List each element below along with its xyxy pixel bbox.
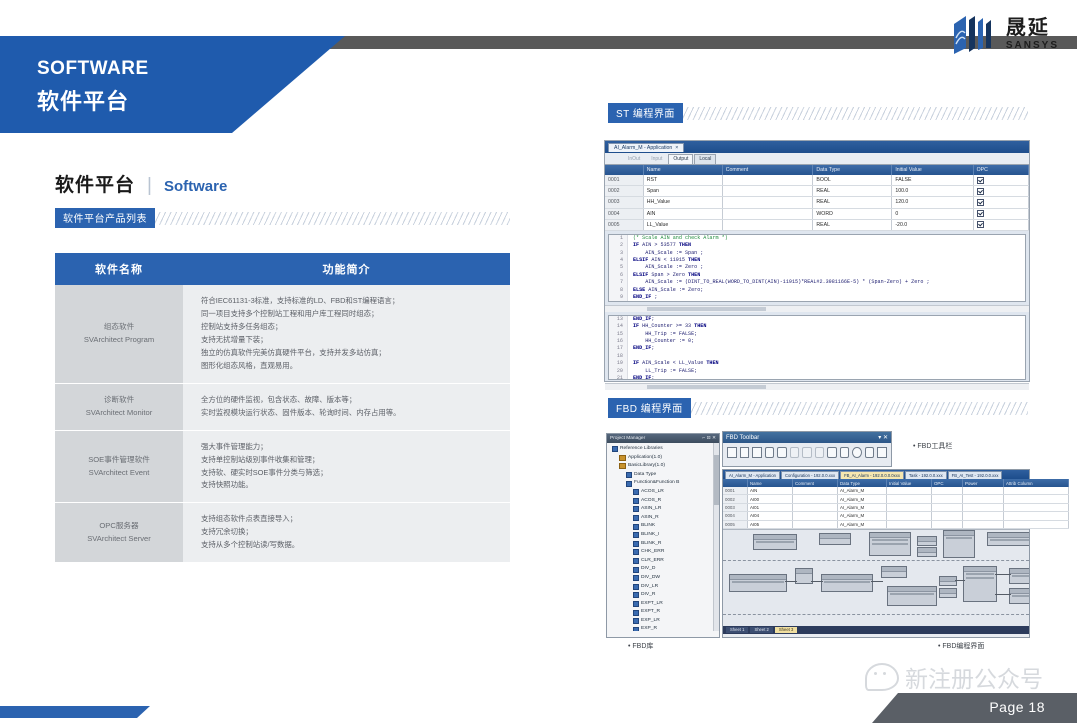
product-desc-line: 强大事件管理能力； xyxy=(201,441,500,454)
tool-function-icon[interactable] xyxy=(777,447,787,458)
logo-name-cn: 晟延 xyxy=(1006,18,1059,38)
fbd-cell xyxy=(793,487,838,495)
product-desc-line: 图形化组态风格，直观易用。 xyxy=(201,360,500,373)
st-hscrollbar-bottom[interactable] xyxy=(605,383,1029,390)
code-line: 13END_IF; xyxy=(609,316,1025,323)
tree-item-label: EXPT_LR xyxy=(641,600,663,609)
fbd-grid-row[interactable]: 0002AI00AI_Alarm_M xyxy=(723,495,1069,503)
code-line-text: AIN_Scale := Zero ; xyxy=(628,264,703,271)
fbd-editor-label: FBD编程界面 xyxy=(938,641,984,651)
block-icon xyxy=(633,627,639,631)
code-line-text: ELSE AIN_Scale := Zero; xyxy=(628,287,703,294)
fbd-cell: 0005 xyxy=(723,520,748,528)
code-line-number: 17 xyxy=(609,345,628,352)
panel-window-controls[interactable]: ⌐ ⊡ ✕ xyxy=(702,436,716,441)
tree-item[interactable]: CHK_ERR xyxy=(610,548,719,557)
watermark-text: 新注册公众号 xyxy=(905,660,1043,694)
block-icon xyxy=(633,532,639,538)
tree-item[interactable]: EXP_LR xyxy=(610,617,719,626)
code-line-number: 21 xyxy=(609,375,628,380)
hatch-decoration xyxy=(154,212,510,225)
fbd-block[interactable] xyxy=(963,566,997,602)
block-icon xyxy=(633,515,639,521)
fbd-cell xyxy=(963,487,1004,495)
section-title-en: Software xyxy=(164,178,227,195)
st-window-tabbar: AI_Alarm_M - Application × xyxy=(605,141,1029,153)
product-name-cell: OPC服务器SVArchitect Server xyxy=(55,503,183,563)
fbd-block[interactable] xyxy=(939,576,957,586)
st-grid-row[interactable]: 0003HH_ValueREAL120.0 xyxy=(605,197,1029,208)
project-manager-scrollbar[interactable] xyxy=(713,443,719,631)
tree-item-label: ASIN_LR xyxy=(641,505,661,514)
code-line: 8ELSE AIN_Scale := Zero; xyxy=(609,287,1025,294)
st-cell-initial: -20.0 xyxy=(892,219,973,230)
st-opc-checkbox[interactable] xyxy=(973,186,1028,197)
chevron-down-icon[interactable]: ▾ xyxy=(878,435,881,441)
fbd-cell xyxy=(793,503,838,511)
tree-item-label: EXPT_R xyxy=(641,608,660,617)
tree-item-label: ASIN_R xyxy=(641,514,659,523)
code-line-text: HH_Counter := 0; xyxy=(628,338,694,345)
product-name-en: SVArchitect Event xyxy=(59,467,179,480)
product-desc-line: 独立的仿真软件完美仿真硬件平台，支持并发多站仿真； xyxy=(201,347,500,360)
fbd-cell: AI04 xyxy=(748,512,793,520)
product-desc-cell: 全方位的硬件监视，包含状态、故障、版本等；实时监视模块运行状态、固件版本、轮询时… xyxy=(183,383,510,430)
header-title-en: SOFTWARE xyxy=(37,58,149,80)
st-variable-scope-tabs[interactable]: InOutInputOutputLocal xyxy=(605,153,1029,165)
st-col-index xyxy=(605,165,643,175)
column-header-name: 软件名称 xyxy=(55,253,183,285)
code-line: 5 AIN_Scale := Zero ; xyxy=(609,264,1025,271)
fbd-editor-tab[interactable]: Configuration - 192.0.0.xxx xyxy=(781,471,839,479)
project-manager-titlebar: Project Manager ⌐ ⊡ ✕ xyxy=(607,434,719,443)
code-line: 20 LL_Trip := FALSE; xyxy=(609,368,1025,375)
fbd-tag-row: FBD 编程界面 xyxy=(608,400,1028,416)
tool-variable-icon[interactable] xyxy=(827,447,837,458)
fbd-library-label: FBD库 xyxy=(628,641,653,651)
tool-contact-icon[interactable] xyxy=(790,447,800,458)
code-line-number: 2 xyxy=(609,242,628,249)
tool-comment-icon[interactable] xyxy=(840,447,850,458)
st-grid-row[interactable]: 0005LL_ValueREAL-20.0 xyxy=(605,219,1029,230)
st-cell-name: HH_Value xyxy=(643,197,722,208)
st-code-editor-top[interactable]: 1(* Scale AIN and check Alarm *)2IF AIN … xyxy=(608,234,1026,302)
fbd-block[interactable] xyxy=(939,588,957,598)
hatch-decoration-st xyxy=(682,107,1028,120)
page-number: Page 18 xyxy=(989,699,1045,715)
fbd-cell: AI00 xyxy=(748,495,793,503)
block-icon xyxy=(633,575,639,581)
slide-page: SOFTWARE 软件平台 晟延 SANSYS 软件平台 | Software … xyxy=(0,0,1077,728)
code-line: 14IF HH_Counter >= 33 THEN xyxy=(609,323,1025,330)
sheet-tab[interactable]: Sheet 1 xyxy=(726,627,748,633)
fbd-col-name: Name xyxy=(748,479,793,487)
block-icon xyxy=(633,618,639,624)
code-line-number: 5 xyxy=(609,264,628,271)
code-line: 9END_IF ; xyxy=(609,294,1025,301)
fbd-cell xyxy=(1004,495,1069,503)
tool-column-icon[interactable] xyxy=(752,447,762,458)
st-grid-row[interactable]: 0002SpanREAL100.0 xyxy=(605,186,1029,197)
code-line-text: END_IF; xyxy=(628,345,654,352)
st-editor-window[interactable]: AI_Alarm_M - Application × InOutInputOut… xyxy=(604,140,1030,382)
fbd-section-tag: FBD 编程界面 xyxy=(608,398,691,418)
code-line-number: 18 xyxy=(609,353,628,360)
product-desc-line: 支持快照功能。 xyxy=(201,479,500,492)
tree-item[interactable]: ACOS_R xyxy=(610,497,719,506)
fbd-col-initial-value: Initial Value xyxy=(887,479,932,487)
tool-label-icon[interactable] xyxy=(865,447,875,458)
block-icon xyxy=(633,524,639,530)
software-product-table: 软件名称 功能简介 组态软件SVArchitect Program符合IEC61… xyxy=(55,253,510,563)
st-cell-type: REAL xyxy=(813,186,892,197)
network-separator xyxy=(723,614,1029,615)
tree-item-label: Application(1.0) xyxy=(628,454,662,463)
tree-item-label: DIV_R xyxy=(641,591,655,600)
product-name-cell: 诊断软件SVArchitect Monitor xyxy=(55,383,183,430)
tree-item[interactable]: CLR_ERR xyxy=(610,557,719,566)
sheet-tab[interactable]: Sheet 2 xyxy=(750,627,772,633)
close-icon[interactable]: × xyxy=(675,145,678,151)
code-line: 1(* Scale AIN and check Alarm *) xyxy=(609,235,1025,242)
fbd-block[interactable] xyxy=(881,566,907,578)
code-line-number: 9 xyxy=(609,294,628,301)
code-line: 2IF AIN > 53577 THEN xyxy=(609,242,1025,249)
fbd-col-comment: Comment xyxy=(793,479,838,487)
code-line-number: 15 xyxy=(609,331,628,338)
tree-item[interactable]: Data Type xyxy=(610,471,719,480)
footer-blue-bar xyxy=(0,706,150,718)
tree-item-label: EXP_LR xyxy=(641,617,660,626)
product-desc-line: 支持无扰增量下装； xyxy=(201,334,500,347)
fbd-cell xyxy=(963,495,1004,503)
product-list-tag-row: 软件平台产品列表 xyxy=(55,210,510,226)
st-col-opc: OPC xyxy=(973,165,1028,175)
code-line-text: ELSIF Span > Zero THEN xyxy=(628,272,700,279)
project-manager-tree[interactable]: Reference LibrariesApplication(1.0)Basic… xyxy=(607,443,719,631)
st-cell-comment xyxy=(722,219,813,230)
tree-item[interactable]: ASIN_LR xyxy=(610,505,719,514)
fbd-cell xyxy=(932,520,963,528)
fbd-toolbar-buttons[interactable] xyxy=(723,443,891,462)
code-line-number: 16 xyxy=(609,338,628,345)
st-cell-type: WORD xyxy=(813,208,892,219)
fbd-col-data-type: Data Type xyxy=(838,479,887,487)
code-line: 3 AIN_Scale := Span ; xyxy=(609,250,1025,257)
fbd-block[interactable] xyxy=(869,532,911,556)
section-title-cn: 软件平台 xyxy=(55,170,135,197)
fbd-cell: AI_Alarm_M xyxy=(838,487,887,495)
fbd-cell xyxy=(887,512,932,520)
fbd-cell: 0003 xyxy=(723,503,748,511)
fbd-cell xyxy=(1004,487,1069,495)
tree-item[interactable]: BLINK xyxy=(610,522,719,531)
st-section-tag: ST 编程界面 xyxy=(608,103,683,123)
wechat-watermark: 新注册公众号 xyxy=(865,660,1043,694)
tree-item[interactable]: BasicLibrary(1.0) xyxy=(610,462,719,471)
tree-item[interactable]: BLINK_I xyxy=(610,531,719,540)
st-cell-comment xyxy=(722,175,813,186)
network-separator xyxy=(723,560,1029,561)
code-line-number: 4 xyxy=(609,257,628,264)
code-line-number: 19 xyxy=(609,360,628,367)
fbd-wire xyxy=(811,581,823,582)
fbd-cell: AI05 xyxy=(748,520,793,528)
code-line-text: ELSIF AIN < 11915 THEN xyxy=(628,257,700,264)
st-code-editor-bottom[interactable]: 13END_IF;14IF HH_Counter >= 33 THEN15 HH… xyxy=(608,315,1026,380)
st-cell-name: LL_Value xyxy=(643,219,722,230)
tree-item[interactable]: DIV_D xyxy=(610,565,719,574)
tool-coil-icon[interactable] xyxy=(802,447,812,458)
fbd-editor-tabbar[interactable]: AI_Alarm_M - ApplicationConfiguration - … xyxy=(723,470,1029,479)
fbd-block[interactable] xyxy=(987,532,1029,546)
st-scope-tab-input[interactable]: Input xyxy=(646,154,667,164)
tree-item[interactable]: EXPT_LR xyxy=(610,600,719,609)
function-icon xyxy=(626,481,632,487)
code-line-text: IF AIN > 53577 THEN xyxy=(628,242,691,249)
product-desc-cell: 支持组态软件点表直接导入；支持冗余切换；支持从多个控制站读/写数据。 xyxy=(183,503,510,563)
tree-item[interactable]: Application(1.0) xyxy=(610,454,719,463)
st-cell-idx: 0001 xyxy=(605,175,643,186)
st-hscrollbar-top[interactable] xyxy=(605,305,1029,312)
block-icon xyxy=(633,567,639,573)
code-line-number: 8 xyxy=(609,287,628,294)
code-line-number: 6 xyxy=(609,272,628,279)
datatype-icon xyxy=(626,472,632,478)
table-row: SOE事件管理软件SVArchitect Event强大事件管理能力；支持单控制… xyxy=(55,430,510,503)
block-icon xyxy=(633,584,639,590)
tree-item[interactable]: Function&Function B xyxy=(610,479,719,488)
tree-item[interactable]: DIV_LR xyxy=(610,583,719,592)
tree-item[interactable]: EXPT_R xyxy=(610,608,719,617)
fbd-toolbar-title: FBD Toolbar xyxy=(726,435,759,441)
tree-item[interactable]: EXP_R xyxy=(610,625,719,631)
product-desc-cell: 符合IEC61131-3标准，支持标准的LD、FBD和ST编程语言；同一项目支持… xyxy=(183,285,510,383)
folder-icon xyxy=(619,455,626,461)
tree-item-label: Data Type xyxy=(634,471,656,480)
code-line-text: AIN_Scale := Span ; xyxy=(628,250,703,257)
project-manager-title: Project Manager xyxy=(610,436,645,441)
column-header-desc: 功能简介 xyxy=(183,253,510,285)
fbd-block[interactable] xyxy=(1009,588,1029,604)
code-line-number: 1 xyxy=(609,235,628,242)
fbd-cell: 0001 xyxy=(723,487,748,495)
fbd-grid-row[interactable]: 0005AI05AI_Alarm_M xyxy=(723,520,1069,528)
product-list-tag: 软件平台产品列表 xyxy=(55,208,155,228)
code-line-number: 3 xyxy=(609,250,628,257)
fbd-cell xyxy=(1004,503,1069,511)
fbd-wire xyxy=(955,580,965,581)
fbd-block[interactable] xyxy=(821,574,873,592)
tool-jump-icon[interactable] xyxy=(815,447,825,458)
product-desc-line: 全方位的硬件监视，包含状态、故障、版本等； xyxy=(201,394,500,407)
fbd-col-power: Power xyxy=(963,479,1004,487)
st-opc-checkbox[interactable] xyxy=(973,208,1028,219)
fbd-cell xyxy=(1004,512,1069,520)
fbd-cell xyxy=(932,495,963,503)
fbd-cell xyxy=(932,512,963,520)
st-cell-type: BOOL xyxy=(813,175,892,186)
tree-item-label: DIV_DW xyxy=(641,574,660,583)
tree-item-label: BasicLibrary(1.0) xyxy=(628,462,665,471)
tool-pointer-icon[interactable] xyxy=(727,447,737,458)
block-icon xyxy=(633,506,639,512)
tool-network-icon[interactable] xyxy=(740,447,750,458)
fbd-cell: AI_Alarm_M xyxy=(838,495,887,503)
fbd-cell xyxy=(793,512,838,520)
code-line-number: 20 xyxy=(609,368,628,375)
fbd-grid-row[interactable]: 0001AINAI_Alarm_M xyxy=(723,487,1069,495)
fbd-cell xyxy=(963,520,1004,528)
st-opc-checkbox[interactable] xyxy=(973,219,1028,230)
code-line: 16 HH_Counter := 0; xyxy=(609,338,1025,345)
st-cell-idx: 0005 xyxy=(605,219,643,230)
table-header-row: 软件名称 功能简介 xyxy=(55,253,510,285)
fbd-block[interactable] xyxy=(917,547,937,557)
st-scope-tab-inout[interactable]: InOut xyxy=(623,154,645,164)
fbd-cell xyxy=(932,487,963,495)
product-desc-line: 符合IEC61131-3标准，支持标准的LD、FBD和ST编程语言； xyxy=(201,295,500,308)
st-cell-idx: 0002 xyxy=(605,186,643,197)
library-icon xyxy=(612,446,618,452)
fbd-cell xyxy=(963,512,1004,520)
st-grid-row[interactable]: 0004AINWORD0 xyxy=(605,208,1029,219)
fbd-editor-window[interactable]: AI_Alarm_M - ApplicationConfiguration - … xyxy=(722,469,1030,638)
st-window-tab[interactable]: AI_Alarm_M - Application × xyxy=(608,143,684,152)
fbd-cell xyxy=(1004,520,1069,528)
sansys-logo-mark-icon xyxy=(952,14,998,56)
fbd-block[interactable] xyxy=(1009,568,1029,584)
header-title-cn: 软件平台 xyxy=(37,84,129,116)
st-cell-initial: 120.0 xyxy=(892,197,973,208)
tree-item-label: CLR_ERR xyxy=(641,557,664,566)
st-scope-tab-local[interactable]: Local xyxy=(694,154,716,164)
fbd-editor-tab[interactable]: FB_AI_Alarm - 192.0.0.0.0xxx xyxy=(840,471,904,479)
st-opc-checkbox[interactable] xyxy=(973,175,1028,186)
tree-item[interactable]: Reference Libraries xyxy=(610,445,719,454)
tool-connector-icon[interactable] xyxy=(852,447,862,458)
code-line: 7 AIN_Scale := (DINT_TO_REAL(WORD_TO_DIN… xyxy=(609,279,1025,286)
product-desc-line: 支持软、硬实时SOE事件分类与筛选； xyxy=(201,467,500,480)
block-icon xyxy=(633,601,639,607)
tree-item[interactable]: BLINK_R xyxy=(610,540,719,549)
fbd-cell xyxy=(887,487,932,495)
table-row: 诊断软件SVArchitect Monitor全方位的硬件监视，包含状态、故障、… xyxy=(55,383,510,430)
fbd-grid-row[interactable]: 0004AI04AI_Alarm_M xyxy=(723,512,1069,520)
fbd-block[interactable] xyxy=(819,533,851,545)
tool-block-icon[interactable] xyxy=(765,447,775,458)
fbd-cell: AI_Alarm_M xyxy=(838,512,887,520)
code-line-number: 14 xyxy=(609,323,628,330)
product-name-cell: SOE事件管理软件SVArchitect Event xyxy=(55,430,183,503)
code-line-text: IF AIN_Scale < LL_Value THEN xyxy=(628,360,719,367)
st-cell-idx: 0004 xyxy=(605,208,643,219)
product-name-cn: SOE事件管理软件 xyxy=(59,454,179,467)
fbd-toolbar-window-controls[interactable]: ▾ ✕ xyxy=(878,434,888,441)
st-cell-initial: 100.0 xyxy=(892,186,973,197)
product-name-en: SVArchitect Server xyxy=(59,533,179,546)
fbd-block[interactable] xyxy=(943,530,975,558)
code-line-text: AIN_Scale := (DINT_TO_REAL(WORD_TO_DINT(… xyxy=(628,279,930,286)
tree-item[interactable]: DIV_R xyxy=(610,591,719,600)
tool-return-icon[interactable] xyxy=(877,447,887,458)
code-line: 17END_IF; xyxy=(609,345,1025,352)
product-desc-line: 支持单控制站级别事件收集和管理； xyxy=(201,454,500,467)
code-line: 10 xyxy=(609,301,1025,302)
fbd-grid-row[interactable]: 0003AI01AI_Alarm_M xyxy=(723,503,1069,511)
code-line-text: HH_Trip := FALSE; xyxy=(628,331,697,338)
fbd-editor-tab[interactable]: Task - 192.0.0.xxx xyxy=(905,471,947,479)
fbd-cell: 0004 xyxy=(723,512,748,520)
tree-item[interactable]: DIV_DW xyxy=(610,574,719,583)
fbd-block[interactable] xyxy=(729,574,787,592)
st-scope-tab-output[interactable]: Output xyxy=(668,154,693,164)
fbd-block[interactable] xyxy=(917,536,937,546)
code-line-number: 13 xyxy=(609,316,628,323)
code-line: 19IF AIN_Scale < LL_Value THEN xyxy=(609,360,1025,367)
fbd-cell: AI_Alarm_M xyxy=(838,520,887,528)
product-desc-cell: 强大事件管理能力；支持单控制站级别事件收集和管理；支持软、硬实时SOE事件分类与… xyxy=(183,430,510,503)
block-icon xyxy=(633,592,639,598)
st-cell-type: REAL xyxy=(813,219,892,230)
project-manager-panel[interactable]: Project Manager ⌐ ⊡ ✕ Reference Librarie… xyxy=(606,433,720,638)
fbd-cell xyxy=(887,520,932,528)
fbd-diagram-canvas[interactable] xyxy=(723,529,1029,626)
close-icon[interactable]: ✕ xyxy=(883,435,888,441)
block-icon xyxy=(633,541,639,547)
tree-item-label: BLINK xyxy=(641,522,655,531)
fbd-block[interactable] xyxy=(753,534,797,550)
code-line: 6ELSIF Span > Zero THEN xyxy=(609,272,1025,279)
fbd-cell xyxy=(932,503,963,511)
fbd-toolbar-window[interactable]: FBD Toolbar ▾ ✕ xyxy=(722,431,892,467)
tree-item[interactable]: ASIN_R xyxy=(610,514,719,523)
tree-item-label: Function&Function B xyxy=(634,479,679,488)
brand-logo: 晟延 SANSYS xyxy=(952,14,1059,56)
fbd-editor-tab[interactable]: FB_AI_Test - 192.0.0.xxx xyxy=(948,471,1003,479)
fbd-cell: 0002 xyxy=(723,495,748,503)
fbd-variable-grid[interactable]: NameCommentData TypeInitial ValueOPCPowe… xyxy=(723,479,1069,529)
fbd-sheet-tabs[interactable]: Sheet 1Sheet 2Sheet 3 xyxy=(723,626,1029,634)
sheet-tab[interactable]: Sheet 3 xyxy=(775,627,797,633)
st-variable-grid[interactable]: NameCommentData TypeInitial ValueOPC 000… xyxy=(605,165,1029,231)
fbd-wire xyxy=(785,581,797,582)
section-title: 软件平台 | Software xyxy=(55,170,227,197)
tree-item-label: Reference Libraries xyxy=(620,445,663,454)
st-cell-name: Span xyxy=(643,186,722,197)
fbd-col-opc: OPC xyxy=(932,479,963,487)
tree-item-label: BLINK_R xyxy=(641,540,661,549)
product-desc-line: 支持组态软件点表直接导入； xyxy=(201,513,500,526)
fbd-editor-tab[interactable]: AI_Alarm_M - Application xyxy=(725,471,780,479)
block-icon xyxy=(633,558,639,564)
table-row: OPC服务器SVArchitect Server支持组态软件点表直接导入；支持冗… xyxy=(55,503,510,563)
st-window-tab-label: AI_Alarm_M - Application xyxy=(614,145,672,151)
fbd-cell xyxy=(793,520,838,528)
st-cell-comment xyxy=(722,197,813,208)
st-opc-checkbox[interactable] xyxy=(973,197,1028,208)
tree-item[interactable]: ACOS_LR xyxy=(610,488,719,497)
st-cell-name: AIN xyxy=(643,208,722,219)
st-grid-row[interactable]: 0001RSTBOOLFALSE xyxy=(605,175,1029,186)
product-name-cn: 诊断软件 xyxy=(59,394,179,407)
st-col-initial-value: Initial Value xyxy=(892,165,973,175)
fbd-block[interactable] xyxy=(887,586,937,606)
product-name-en: SVArchitect Program xyxy=(59,334,179,347)
tree-item-label: ACOS_R xyxy=(641,497,661,506)
st-grid-header-row: NameCommentData TypeInitial ValueOPC xyxy=(605,165,1029,175)
tree-item-label: DIV_LR xyxy=(641,583,658,592)
